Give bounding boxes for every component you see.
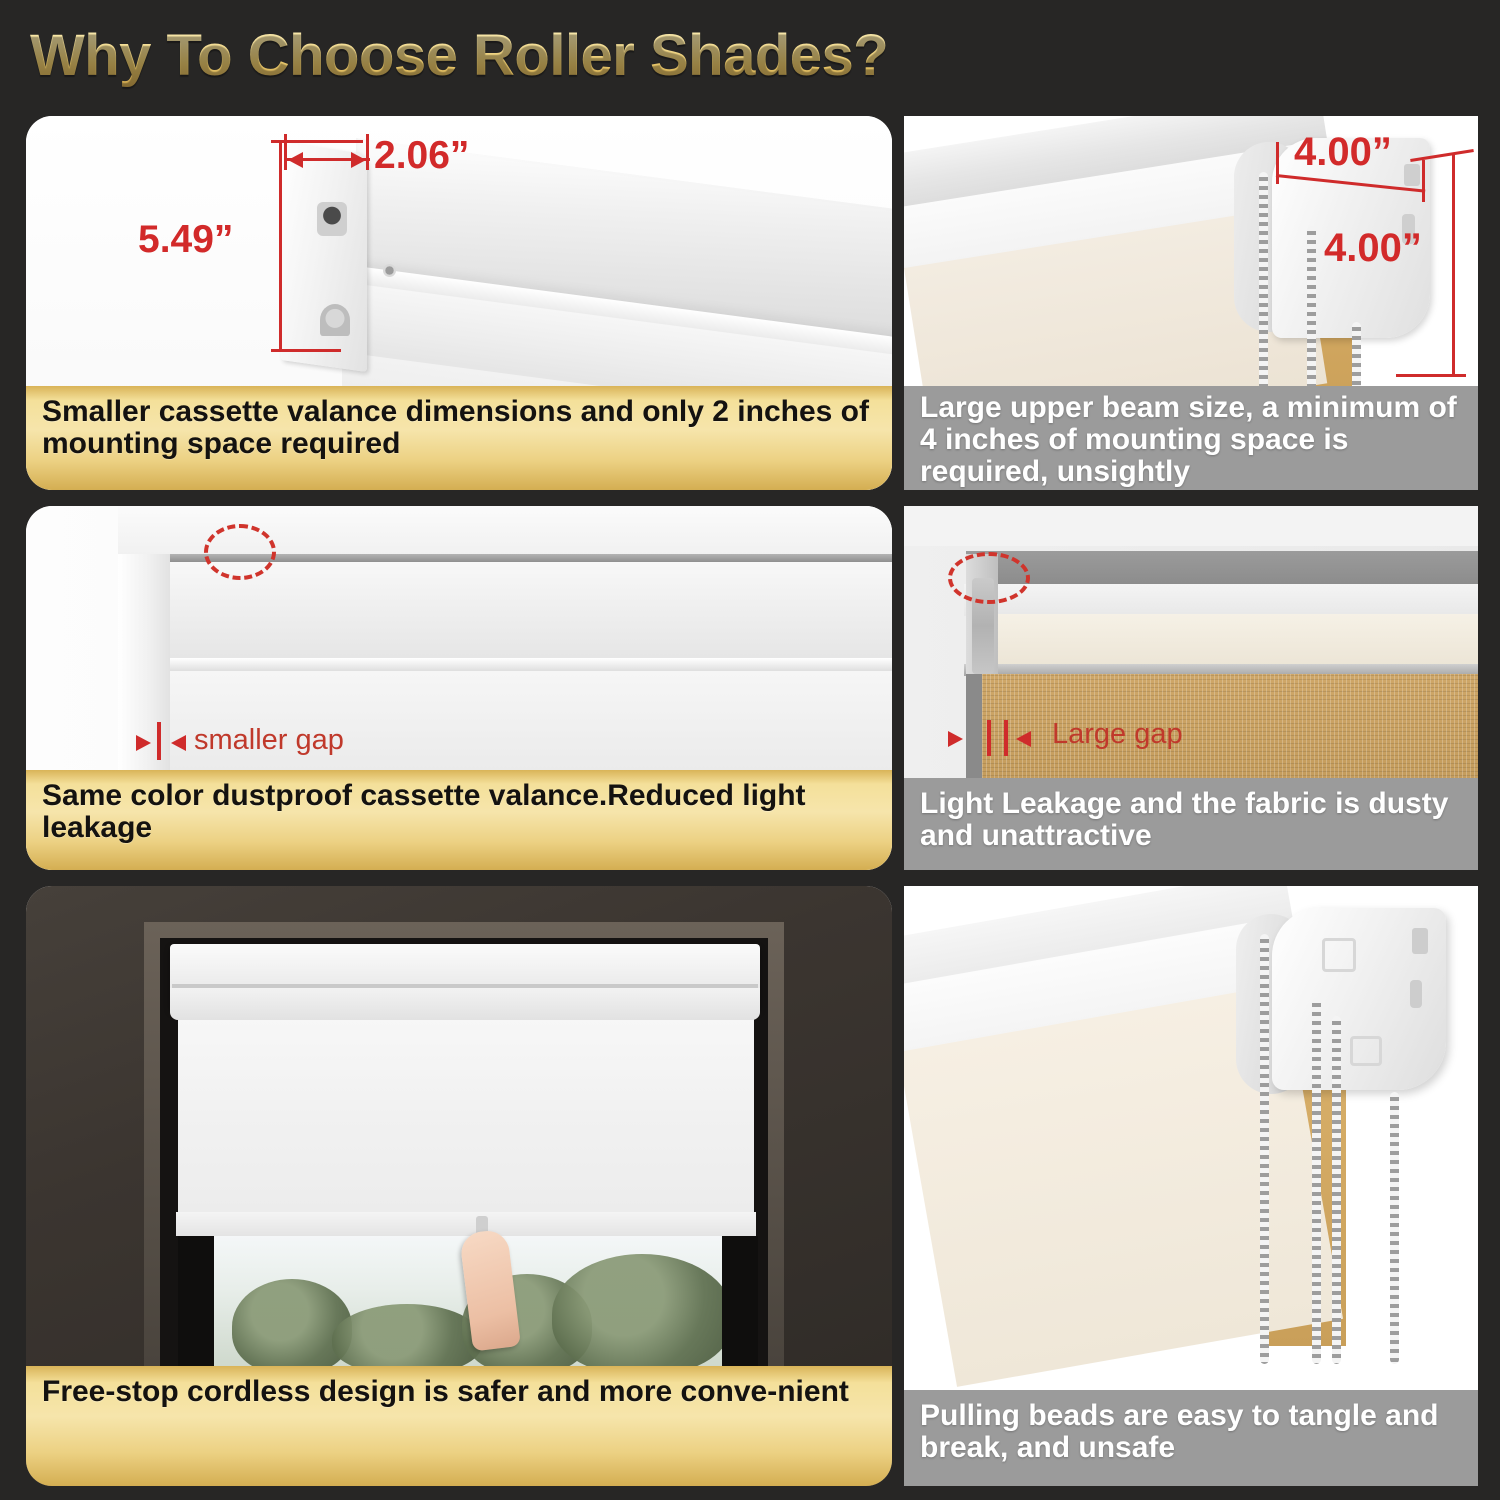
panel-caption: Large upper beam size, a minimum of 4 in…: [904, 386, 1478, 490]
panel-dustproof-valance: smaller gap Same color dustproof cassett…: [26, 506, 892, 870]
panel-cassette-dimensions: 2.06” 5.49” Smaller cassette valance dim…: [26, 116, 892, 490]
gap-arrow-right: [171, 735, 186, 751]
panel-grid: 2.06” 5.49” Smaller cassette valance dim…: [0, 112, 1500, 1500]
panel-light-leakage: Large gap Light Leakage and the fabric i…: [904, 506, 1478, 870]
gap-highlight-ellipse: [948, 552, 1030, 604]
beam-width-tick-left: [1276, 142, 1279, 184]
height-dim-tick-bottom: [271, 349, 341, 352]
gap-arrow-left: [948, 731, 963, 747]
width-dim-tick-right: [366, 134, 369, 170]
beam-width-label: 4.00”: [1294, 130, 1392, 175]
beam-height-label: 4.00”: [1324, 226, 1422, 271]
panel-caption: Smaller cassette valance dimensions and …: [26, 386, 892, 490]
panel-large-upper-beam: 4.00” 4.00” Large upper beam size, a min…: [904, 116, 1478, 490]
gap-highlight-ellipse: [204, 524, 276, 580]
bead-chain: [1260, 934, 1269, 1364]
height-dim-line: [279, 140, 282, 352]
panel-caption: Light Leakage and the fabric is dusty an…: [904, 778, 1478, 870]
gap-marker-bar-1: [987, 720, 991, 756]
panel-caption: Same color dustproof cassette valance.Re…: [26, 770, 892, 870]
width-dim-arrow-left: [288, 152, 303, 168]
beam-width-tick-right: [1422, 160, 1425, 202]
height-dimension-label: 5.49”: [138, 218, 233, 262]
panel-caption: Free-stop cordless design is safer and m…: [26, 1366, 892, 1486]
panel-pulling-beads: Pulling beads are easy to tangle and bre…: [904, 886, 1478, 1486]
bead-chain: [1390, 1092, 1399, 1364]
width-dimension-label: 2.06”: [374, 134, 469, 178]
gap-arrow-right: [1016, 731, 1031, 747]
panel-caption: Pulling beads are easy to tangle and bre…: [904, 1390, 1478, 1486]
panel-cordless-design: Free-stop cordless design is safer and m…: [26, 886, 892, 1486]
bead-chain: [1259, 172, 1268, 412]
gap-marker-bar: [157, 722, 161, 760]
bead-chain: [1312, 998, 1321, 1364]
beam-height-tick-bottom: [1396, 374, 1466, 377]
gap-callout-label: smaller gap: [194, 724, 344, 757]
gap-arrow-left: [136, 735, 151, 751]
infographic-page: Why To Choose Roller Shades? 2.06”: [0, 0, 1500, 1500]
page-title: Why To Choose Roller Shades?: [30, 22, 888, 89]
beam-height-dim-line: [1452, 154, 1455, 376]
width-dim-arrow-right: [351, 152, 366, 168]
gap-callout-label: Large gap: [1052, 718, 1183, 751]
bead-chain: [1307, 226, 1316, 412]
bead-chain: [1332, 1016, 1341, 1364]
height-dim-tick-top: [271, 140, 363, 143]
gap-marker-bar-2: [1004, 720, 1008, 756]
